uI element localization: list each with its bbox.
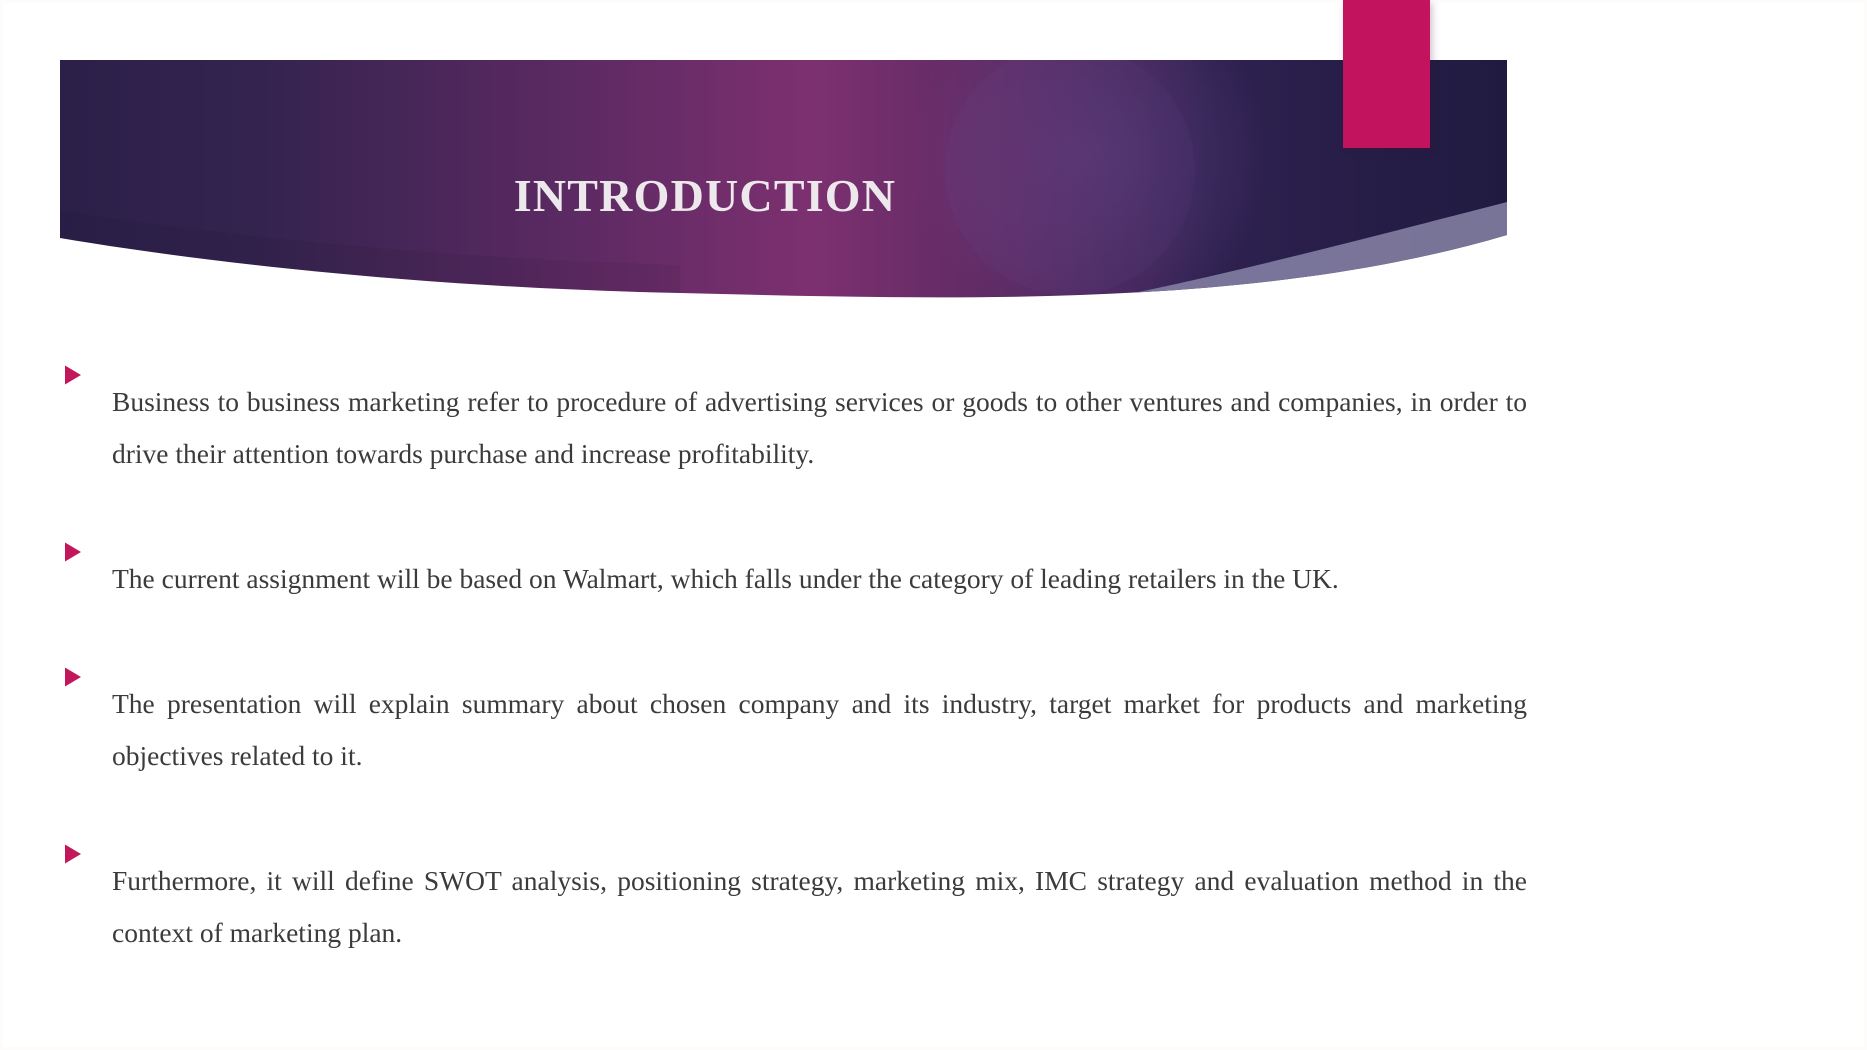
triangle-right-icon	[62, 827, 112, 865]
list-item-text: The current assignment will be based on …	[112, 553, 1527, 605]
list-item: Business to business marketing refer to …	[62, 348, 1527, 507]
bullet-list: Business to business marketing refer to …	[62, 348, 1527, 1004]
triangle-right-icon	[62, 525, 112, 563]
list-item-text: Furthermore, it will define SWOT analysi…	[112, 855, 1527, 959]
list-item: Furthermore, it will define SWOT analysi…	[62, 827, 1527, 986]
list-item-text: Business to business marketing refer to …	[112, 376, 1527, 480]
list-item: The presentation will explain summary ab…	[62, 650, 1527, 809]
list-item-text: The presentation will explain summary ab…	[112, 678, 1527, 782]
presentation-slide: INTRODUCTION Business to business market…	[0, 0, 1867, 1050]
page-title: INTRODUCTION	[60, 171, 1350, 222]
triangle-right-icon	[62, 348, 112, 386]
accent-rectangle	[1343, 0, 1430, 148]
list-item: The current assignment will be based on …	[62, 525, 1527, 632]
triangle-right-icon	[62, 650, 112, 688]
